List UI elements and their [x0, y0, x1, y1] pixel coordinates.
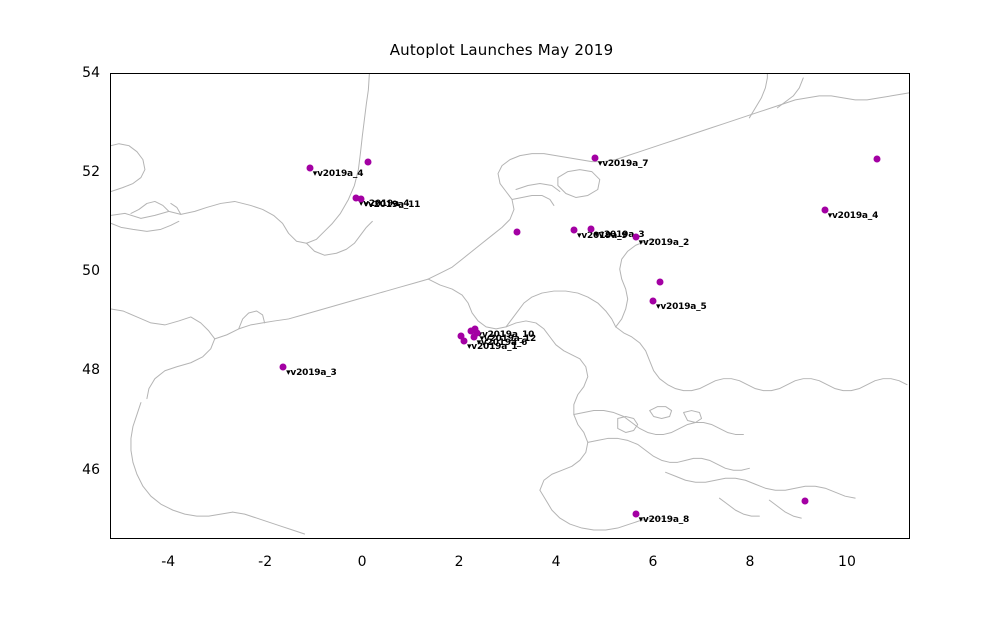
launch-marker[interactable] — [656, 279, 663, 286]
launch-marker-label: ▾v2019a_2 — [639, 238, 689, 248]
data-points-layer: ▾v2019a_4▾v2019a_4▾v2019a_11▾v2019a_7▾v2… — [111, 74, 909, 538]
launch-marker-label: ▾v2019a_3 — [286, 368, 336, 378]
launch-marker[interactable] — [364, 159, 371, 166]
y-tick — [110, 471, 111, 472]
chart-title: Autoplot Launches May 2019 — [0, 41, 1003, 59]
launch-marker[interactable] — [802, 498, 809, 505]
x-tick-minor — [703, 538, 704, 539]
y-tick-minor — [110, 421, 111, 422]
x-tick-label: -4 — [143, 554, 193, 570]
x-tick-label: 6 — [628, 554, 678, 570]
launch-marker-label: ▾v2019a_4 — [313, 169, 363, 179]
x-tick-minor — [509, 538, 510, 539]
y-tick-minor — [110, 223, 111, 224]
x-tick-minor — [896, 538, 897, 539]
y-tick-label: 54 — [54, 65, 100, 81]
x-tick — [751, 538, 752, 539]
launch-marker-label: ▾v2019a_11 — [364, 200, 421, 210]
x-tick — [557, 538, 558, 539]
plot-area: ▾v2019a_4▾v2019a_4▾v2019a_11▾v2019a_7▾v2… — [110, 73, 910, 539]
x-tick-minor — [799, 538, 800, 539]
x-tick — [460, 538, 461, 539]
x-tick — [363, 538, 364, 539]
launch-marker-label: ▾v2019a_1 — [467, 342, 517, 352]
y-tick-minor — [110, 124, 111, 125]
x-tick-label: 0 — [337, 554, 387, 570]
y-tick — [110, 371, 111, 372]
y-tick — [110, 272, 111, 273]
x-tick-label: 4 — [531, 554, 581, 570]
launch-marker[interactable] — [514, 228, 521, 235]
x-tick-minor — [412, 538, 413, 539]
x-tick-minor — [218, 538, 219, 539]
figure: Autoplot Launches May 2019 — [0, 0, 1003, 633]
launch-marker-label: ▾v2019a_4 — [828, 211, 878, 221]
x-tick — [169, 538, 170, 539]
x-tick — [266, 538, 267, 539]
x-tick-minor — [606, 538, 607, 539]
y-tick-label: 48 — [54, 362, 100, 378]
x-tick-label: 8 — [725, 554, 775, 570]
y-tick-minor — [110, 520, 111, 521]
x-tick — [848, 538, 849, 539]
x-tick-label: 10 — [822, 554, 872, 570]
y-tick-label: 52 — [54, 164, 100, 180]
y-tick — [110, 74, 111, 75]
launch-marker-label: ▾v2019a_7 — [598, 159, 648, 169]
launch-marker[interactable] — [874, 156, 881, 163]
launch-marker-label: ▾v2019a_8 — [639, 515, 689, 525]
y-tick-label: 50 — [54, 263, 100, 279]
x-tick-label: -2 — [240, 554, 290, 570]
x-tick-minor — [315, 538, 316, 539]
launch-marker-label: ▾v2019a_5 — [656, 302, 706, 312]
x-tick-label: 2 — [434, 554, 484, 570]
x-tick — [654, 538, 655, 539]
y-tick — [110, 173, 111, 174]
y-tick-minor — [110, 322, 111, 323]
x-tick-minor — [121, 538, 122, 539]
y-tick-label: 46 — [54, 462, 100, 478]
